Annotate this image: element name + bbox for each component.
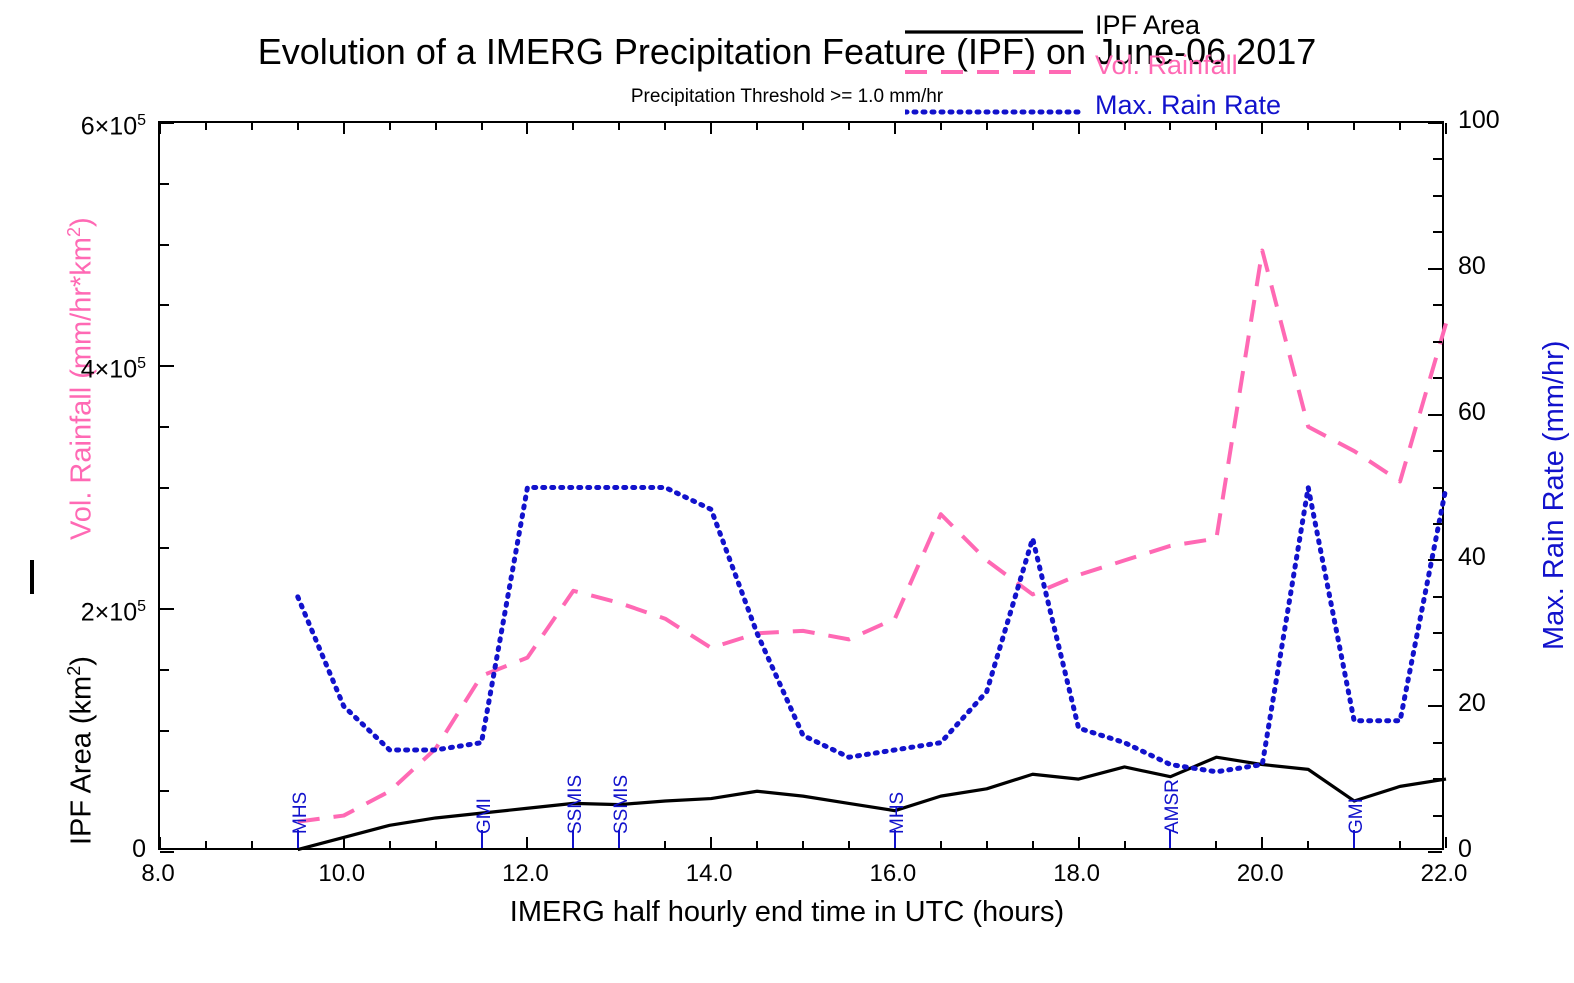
x-tick-bottom-9.0 <box>251 841 253 848</box>
y-tick-right-85 <box>1433 231 1442 233</box>
y-tick-right-15 <box>1433 742 1442 744</box>
x-tick-top-22.0 <box>1445 123 1447 134</box>
x-tick-bottom-15.5 <box>848 841 850 848</box>
x-tick-top-14.0 <box>710 123 712 134</box>
x-tick-bottom-18.5 <box>1124 841 1126 848</box>
x-tick-top-18.5 <box>1124 123 1126 130</box>
x-tick-top-18.0 <box>1078 123 1080 134</box>
x-tick-top-13.0 <box>618 123 620 130</box>
x-tick-top-20.0 <box>1261 123 1263 134</box>
x-tick-bottom-10.0 <box>343 837 345 848</box>
x-tick-top-11.5 <box>481 123 483 130</box>
x-tick-bottom-14.5 <box>756 841 758 848</box>
x-axis-label: IMERG half hourly end time in UTC (hours… <box>0 895 1574 929</box>
legend-swatch-dashed <box>905 64 1083 68</box>
x-tick-top-21.0 <box>1353 123 1355 130</box>
y-tick-left-600000 <box>160 122 174 124</box>
y-tick-right-0 <box>1428 851 1442 853</box>
y-tick-right-30 <box>1433 632 1442 634</box>
x-tick-top-15.5 <box>848 123 850 130</box>
legend-swatch-dotted <box>905 104 1083 108</box>
y-tick-right-10 <box>1433 778 1442 780</box>
satellite-annotation-mhs: MHS <box>888 792 907 834</box>
satellite-annotation-ssmis: SSMIS <box>566 775 585 834</box>
x-tick-top-17.5 <box>1032 123 1034 130</box>
satellite-annotation-tick <box>481 830 483 848</box>
x-tick-top-17.0 <box>986 123 988 130</box>
x-tick-label: 10.0 <box>282 862 402 886</box>
y-tick-right-25 <box>1433 669 1442 671</box>
x-tick-top-19.5 <box>1215 123 1217 130</box>
x-tick-bottom-20.0 <box>1261 837 1263 848</box>
y-tick-right-75 <box>1433 304 1442 306</box>
x-tick-top-14.5 <box>756 123 758 130</box>
y-tick-label-left-exponent: 5 <box>137 112 146 129</box>
legend-label: IPF Area <box>1095 8 1200 42</box>
x-tick-top-21.5 <box>1399 123 1401 130</box>
x-tick-bottom-15.0 <box>802 841 804 848</box>
legend-item-vol-rainfall[interactable]: Vol. Rainfall <box>905 48 1275 84</box>
x-tick-label: 14.0 <box>649 862 769 886</box>
satellite-annotation-gmi: GMI <box>475 798 494 834</box>
y-tick-right-95 <box>1433 158 1442 160</box>
y-tick-right-20 <box>1428 705 1442 707</box>
x-tick-bottom-10.5 <box>389 841 391 848</box>
x-tick-top-16.0 <box>894 123 896 134</box>
y-tick-label-left: 6×105 <box>26 108 146 139</box>
y-tick-left-550000 <box>160 183 169 185</box>
y-tick-label-left: 0 <box>26 837 146 862</box>
y-tick-right-60 <box>1428 414 1442 416</box>
y-tick-label-right: 20 <box>1458 691 1574 716</box>
x-tick-top-8.5 <box>205 123 207 130</box>
x-tick-label: 20.0 <box>1200 862 1320 886</box>
y-tick-label-left-text: 2×10 <box>81 598 137 626</box>
y-tick-right-100 <box>1428 122 1442 124</box>
chart-title: Evolution of a IMERG Precipitation Featu… <box>0 30 1574 74</box>
x-tick-top-12.5 <box>572 123 574 130</box>
satellite-annotation-tick <box>894 830 896 848</box>
y-tick-right-40 <box>1428 559 1442 561</box>
x-tick-bottom-22.0 <box>1445 837 1447 848</box>
x-tick-bottom-12.0 <box>526 837 528 848</box>
satellite-annotation-amsr: AMSR <box>1163 779 1182 834</box>
y-axis-label-separator <box>30 560 34 594</box>
x-tick-bottom-20.5 <box>1307 841 1309 848</box>
x-tick-top-15.0 <box>802 123 804 130</box>
chart-subtitle: Precipitation Threshold >= 1.0 mm/hr <box>0 84 1574 110</box>
y-tick-label-left-text: 6×10 <box>81 112 137 140</box>
legend-item-ipf-area[interactable]: IPF Area <box>905 8 1275 44</box>
x-tick-top-13.5 <box>664 123 666 130</box>
x-tick-top-10.5 <box>389 123 391 130</box>
satellite-annotation-tick <box>297 830 299 848</box>
x-tick-bottom-17.5 <box>1032 841 1034 848</box>
y-tick-label-left: 4×105 <box>26 351 146 382</box>
y-tick-left-300000 <box>160 487 169 489</box>
y-tick-right-55 <box>1433 450 1442 452</box>
y-tick-left-150000 <box>160 669 169 671</box>
x-tick-bottom-8.5 <box>205 841 207 848</box>
satellite-annotation-tick <box>1353 830 1355 848</box>
satellite-annotation-tick <box>572 830 574 848</box>
y-tick-left-200000 <box>160 608 174 610</box>
x-tick-label: 12.0 <box>465 862 585 886</box>
y-tick-right-65 <box>1433 377 1442 379</box>
y-tick-right-45 <box>1433 523 1442 525</box>
plot-canvas <box>160 123 1446 852</box>
y-tick-right-35 <box>1433 596 1442 598</box>
y-tick-left-250000 <box>160 547 169 549</box>
y-tick-label-left: 2×105 <box>26 594 146 625</box>
x-tick-top-11.0 <box>435 123 437 130</box>
x-tick-label: 22.0 <box>1384 862 1504 886</box>
series-layer <box>160 123 1446 852</box>
y-tick-label-left-text: 4×10 <box>81 355 137 383</box>
x-tick-top-12.0 <box>526 123 528 134</box>
legend-item-max-rain-rate[interactable]: Max. Rain Rate <box>905 88 1275 124</box>
y-tick-label-right: 60 <box>1458 400 1574 425</box>
x-tick-top-10.0 <box>343 123 345 134</box>
x-tick-bottom-21.5 <box>1399 841 1401 848</box>
satellite-annotation-ssmis: SSMIS <box>612 775 631 834</box>
series-line-ipf-area <box>298 757 1446 849</box>
satellite-annotation-gmi: GMI <box>1347 798 1366 834</box>
x-tick-label: 16.0 <box>833 862 953 886</box>
x-tick-top-8.0 <box>159 123 161 134</box>
y-tick-right-50 <box>1433 487 1442 489</box>
satellite-annotation-mhs: MHS <box>291 792 310 834</box>
y-tick-right-90 <box>1433 195 1442 197</box>
x-tick-label: 8.0 <box>98 862 218 886</box>
y-axis-left-label-ipf-area: IPF Area (km2) <box>60 656 97 845</box>
y-tick-label-right: 40 <box>1458 545 1574 570</box>
y-tick-label-left-exponent: 5 <box>137 355 146 372</box>
y-tick-right-5 <box>1433 815 1442 817</box>
x-tick-top-20.5 <box>1307 123 1309 130</box>
y-tick-left-400000 <box>160 365 174 367</box>
y-tick-left-0 <box>160 851 174 853</box>
y-tick-left-100000 <box>160 730 169 732</box>
x-tick-top-9.0 <box>251 123 253 130</box>
plot-area: MHSGMISSMISSSMISMHSAMSRGMI <box>158 121 1444 850</box>
x-tick-bottom-8.0 <box>159 837 161 848</box>
x-tick-bottom-11.0 <box>435 841 437 848</box>
y-tick-left-50000 <box>160 790 169 792</box>
y-tick-right-70 <box>1433 341 1442 343</box>
satellite-annotation-tick <box>618 830 620 848</box>
legend: IPF AreaVol. RainfallMax. Rain Rate <box>905 8 1275 123</box>
x-tick-top-19.0 <box>1169 123 1171 130</box>
chart-root: Evolution of a IMERG Precipitation Featu… <box>0 0 1574 983</box>
x-tick-label: 18.0 <box>1017 862 1137 886</box>
y-tick-left-350000 <box>160 426 169 428</box>
satellite-annotation-tick <box>1169 830 1171 848</box>
y-tick-right-80 <box>1428 268 1442 270</box>
x-tick-bottom-16.5 <box>940 841 942 848</box>
y-tick-left-450000 <box>160 304 169 306</box>
x-tick-bottom-18.0 <box>1078 837 1080 848</box>
y-tick-label-left-exponent: 5 <box>137 598 146 615</box>
y-tick-left-500000 <box>160 244 169 246</box>
x-tick-top-16.5 <box>940 123 942 130</box>
x-tick-bottom-19.5 <box>1215 841 1217 848</box>
y-tick-label-left-text: 0 <box>132 835 146 863</box>
x-tick-bottom-14.0 <box>710 837 712 848</box>
y-tick-label-right: 100 <box>1458 108 1574 133</box>
y-axis-right-label-max-rain-rate: Max. Rain Rate (mm/hr) <box>1540 341 1569 650</box>
x-tick-bottom-13.5 <box>664 841 666 848</box>
legend-label: Max. Rain Rate <box>1095 88 1281 122</box>
series-line-vol-rainfall <box>298 251 1446 822</box>
x-tick-bottom-17.0 <box>986 841 988 848</box>
x-tick-top-9.5 <box>297 123 299 130</box>
legend-swatch-solid <box>905 24 1083 28</box>
legend-label: Vol. Rainfall <box>1095 48 1238 82</box>
y-tick-label-right: 0 <box>1458 837 1574 862</box>
y-tick-label-right: 80 <box>1458 254 1574 279</box>
